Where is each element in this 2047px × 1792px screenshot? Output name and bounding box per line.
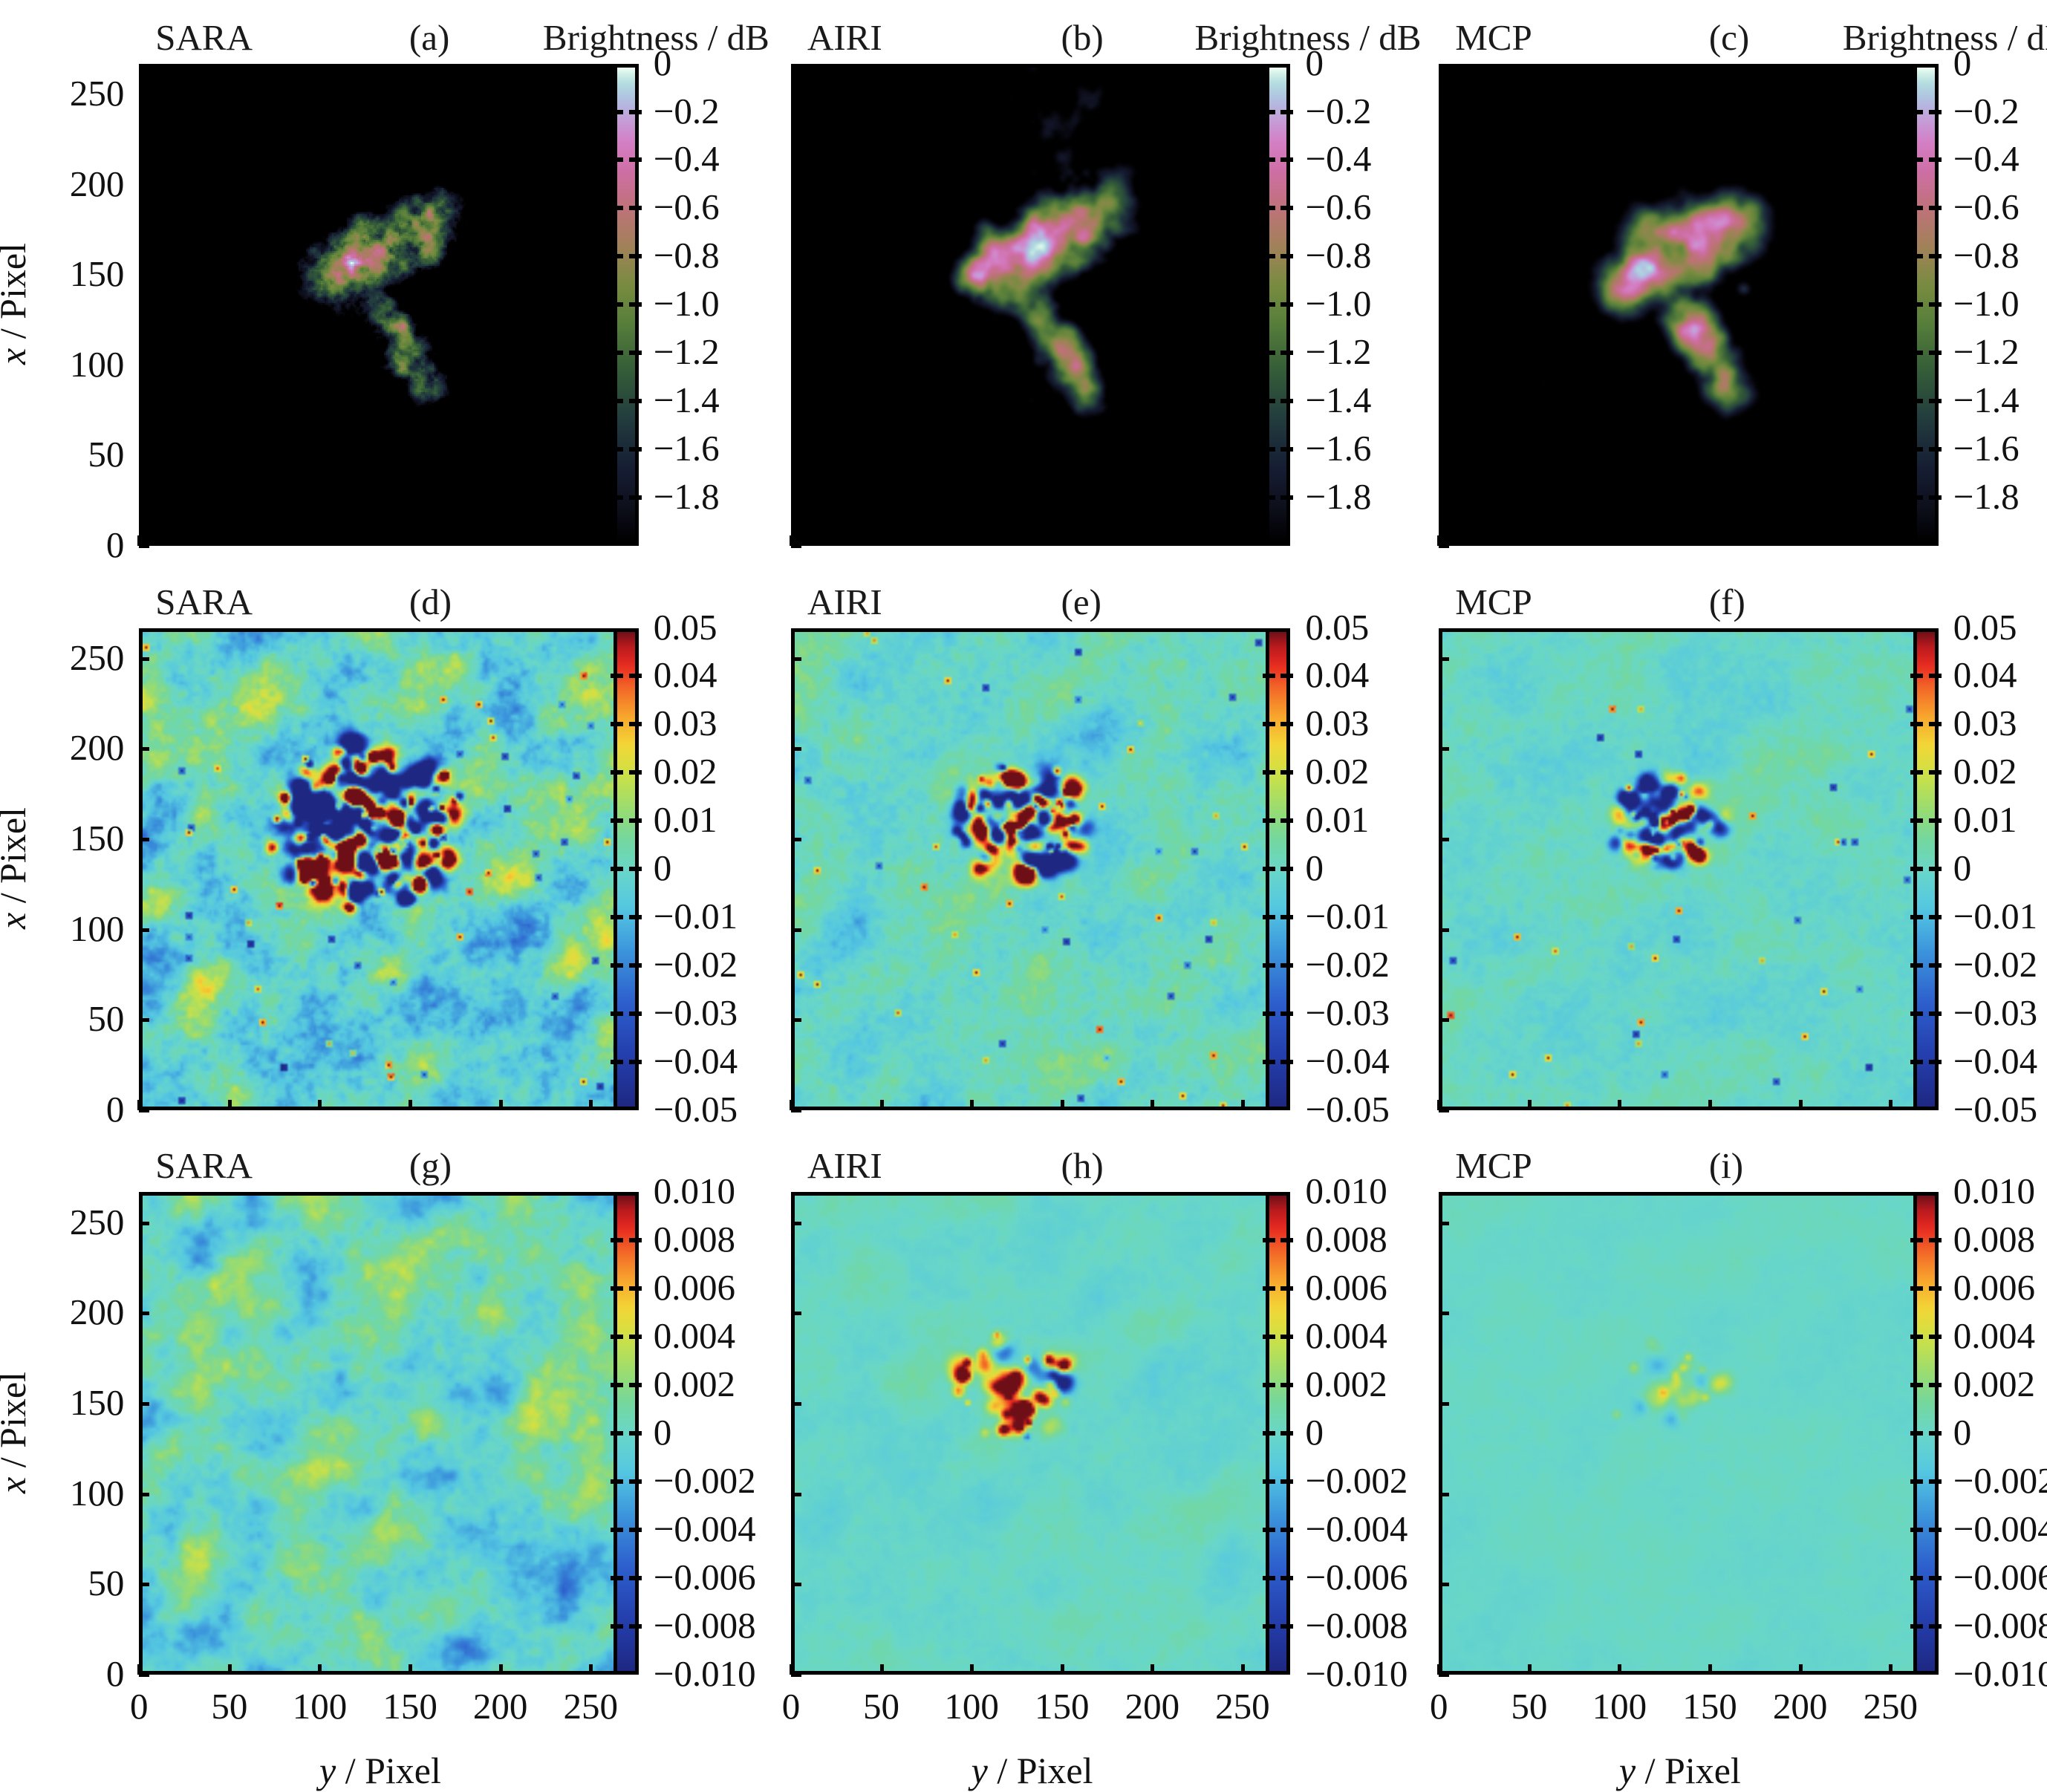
- colorbar-label-f-0: 0.05: [1953, 609, 2017, 645]
- colorbar-tick-r-a-3: [629, 206, 642, 210]
- heatmap-canvas-f: [1442, 632, 1917, 1107]
- x-axis-title-c3: y / Pixel: [1532, 1749, 1829, 1792]
- xtick-h-200: [1151, 1664, 1154, 1675]
- colorbar-tick-d-7: [611, 963, 623, 968]
- colorbar-tick-c-8: [1910, 447, 1923, 452]
- ytick-label-r3-50: 50: [0, 1565, 124, 1601]
- panel-image-h: [791, 1192, 1273, 1674]
- y-axis-title-variable: x: [0, 348, 33, 365]
- colorbar-tick-r-a-5: [629, 302, 642, 307]
- colorbar-tick-r-g-5: [629, 1431, 642, 1436]
- xtick-i-100: [1618, 1664, 1621, 1675]
- ytick-a-200: [139, 183, 149, 187]
- colorbar-tick-i-4: [1910, 1383, 1923, 1387]
- colorbar-tick-r-b-2: [1280, 157, 1293, 162]
- colorbar-label-c-0: 0: [1953, 45, 1972, 81]
- colorbar-label-e-10: −0.05: [1305, 1091, 1389, 1127]
- ytick-label-r2-200: 200: [0, 729, 124, 766]
- xtick-e-0: [790, 1100, 793, 1110]
- y-axis-title-unit: / Pixel: [0, 243, 33, 348]
- colorbar-label-a-0: 0: [654, 45, 672, 81]
- colorbar-label-c-2: −0.4: [1953, 140, 2020, 177]
- colorbar-tick-r-e-6: [1280, 915, 1293, 919]
- colorbar-label-a-7: −1.4: [654, 382, 720, 418]
- xtick-g-50: [228, 1664, 232, 1675]
- ytick-h-200: [791, 1312, 801, 1315]
- colorbar-tick-i-3: [1910, 1335, 1923, 1339]
- colorbar-tick-r-g-4: [629, 1383, 642, 1387]
- colorbar-tick-r-i-5: [1929, 1431, 1942, 1436]
- colorbar-label-g-5: 0: [654, 1414, 672, 1450]
- colorbar-tick-r-c-7: [1929, 399, 1942, 403]
- colorbar-label-e-4: 0.01: [1305, 801, 1369, 838]
- colorbar-tick-h-9: [1263, 1624, 1275, 1629]
- panel-image-e: [791, 628, 1273, 1110]
- colorbar-label-h-3: 0.004: [1305, 1317, 1387, 1354]
- colorbar-tick-r-b-7: [1280, 399, 1293, 403]
- colorbar-tick-d-2: [611, 722, 623, 726]
- colorbar-tick-g-8: [611, 1576, 623, 1580]
- panel-label-a: (a): [409, 19, 449, 56]
- colorbar-label-b-2: −0.4: [1305, 140, 1371, 177]
- colorbar-label-i-6: −0.002: [1953, 1462, 2047, 1499]
- colorbar-label-e-0: 0.05: [1305, 609, 1369, 645]
- colorbar-label-i-4: 0.002: [1953, 1366, 2035, 1402]
- panel-label-g: (g): [409, 1147, 452, 1184]
- ytick-b-50: [791, 454, 801, 457]
- colorbar-tick-r-h-7: [1280, 1528, 1293, 1532]
- colorbar-tick-r-a-8: [629, 447, 642, 452]
- colorbar-tick-r-c-8: [1929, 447, 1942, 452]
- colorbar-label-g-7: −0.004: [654, 1511, 756, 1547]
- colorbar-tick-r-a-4: [629, 254, 642, 258]
- colorbar-title-c: Brightness / dB: [1843, 19, 2047, 56]
- xtick-c-250: [1889, 535, 1893, 546]
- ytick-i-50: [1439, 1583, 1449, 1586]
- xtick-d-150: [409, 1100, 412, 1110]
- xtick-i-250: [1889, 1664, 1893, 1675]
- heatmap-canvas-c: [1442, 68, 1917, 542]
- colorbar-tick-r-a-6: [629, 351, 642, 355]
- colorbar-label-e-1: 0.04: [1305, 656, 1369, 693]
- colorbar-label-g-10: −0.010: [654, 1655, 756, 1692]
- ytick-c-250: [1439, 93, 1449, 97]
- colorbar-tick-r-h-6: [1280, 1479, 1293, 1484]
- colorbar-tick-r-e-5: [1280, 867, 1293, 871]
- colorbar-tick-r-i-9: [1929, 1624, 1942, 1629]
- xtick-b-100: [970, 535, 974, 546]
- colorbar-label-b-7: −1.4: [1305, 382, 1371, 418]
- heatmap-canvas-e: [795, 632, 1269, 1107]
- colorbar-label-h-10: −0.010: [1305, 1655, 1407, 1692]
- colorbar-label-b-8: −1.6: [1305, 430, 1371, 466]
- y-axis-title-variable: x: [0, 1477, 33, 1493]
- colorbar-tick-r-i-8: [1929, 1576, 1942, 1580]
- colorbar-label-h-8: −0.006: [1305, 1559, 1407, 1595]
- xtick-b-250: [1241, 535, 1245, 546]
- colorbar-label-a-9: −1.8: [654, 478, 720, 515]
- colorbar-tick-r-f-8: [1929, 1011, 1942, 1016]
- colorbar-label-a-5: −1.0: [654, 285, 720, 322]
- ytick-g-250: [139, 1222, 149, 1225]
- colorbar-label-f-7: −0.02: [1953, 946, 2037, 983]
- ytick-h-250: [791, 1222, 801, 1225]
- panel-title-method-g: SARA: [155, 1147, 253, 1184]
- colorbar-tick-r-b-9: [1280, 495, 1293, 500]
- colorbar-label-a-3: −0.6: [654, 189, 720, 225]
- xtick-h-100: [970, 1664, 974, 1675]
- colorbar-label-e-9: −0.04: [1305, 1043, 1389, 1079]
- colorbar-tick-r-i-6: [1929, 1479, 1942, 1484]
- colorbar-tick-h-5: [1263, 1431, 1275, 1436]
- colorbar-tick-r-h-5: [1280, 1431, 1293, 1436]
- colorbar-label-f-2: 0.03: [1953, 705, 2017, 741]
- colorbar-tick-i-5: [1910, 1431, 1923, 1436]
- colorbar-tick-e-1: [1263, 674, 1275, 678]
- colorbar-label-h-4: 0.002: [1305, 1366, 1387, 1402]
- xtick-f-250: [1889, 1100, 1893, 1110]
- colorbar-tick-i-7: [1910, 1528, 1923, 1532]
- ytick-label-r1-50: 50: [0, 436, 124, 472]
- colorbar-tick-h-6: [1263, 1479, 1275, 1484]
- colorbar-label-i-2: 0.006: [1953, 1269, 2035, 1306]
- colorbar-tick-c-5: [1910, 302, 1923, 307]
- colorbar-tick-e-7: [1263, 963, 1275, 968]
- colorbar-tick-r-g-3: [629, 1335, 642, 1339]
- heatmap-canvas-a: [143, 68, 617, 542]
- ytick-c-100: [1439, 364, 1449, 368]
- y-axis-title-r1: x / Pixel: [0, 207, 34, 400]
- colorbar-label-f-1: 0.04: [1953, 656, 2017, 693]
- ytick-d-150: [139, 838, 149, 841]
- colorbar-label-d-1: 0.04: [654, 656, 717, 693]
- colorbar-tick-r-c-1: [1929, 110, 1942, 114]
- colorbar-tick-d-4: [611, 818, 623, 823]
- xtick-c-200: [1799, 535, 1803, 546]
- ytick-c-200: [1439, 183, 1449, 187]
- colorbar-label-d-7: −0.02: [654, 946, 738, 983]
- xtick-a-50: [228, 535, 232, 546]
- colorbar-label-h-1: 0.008: [1305, 1221, 1387, 1257]
- ytick-label-r2-250: 250: [0, 639, 124, 676]
- colorbar-tick-r-d-8: [629, 1011, 642, 1016]
- colorbar-label-a-8: −1.6: [654, 430, 720, 466]
- colorbar-tick-r-d-4: [629, 818, 642, 823]
- colorbar-tick-r-f-4: [1929, 818, 1942, 823]
- colorbar-tick-c-9: [1910, 495, 1923, 500]
- colorbar-tick-a-4: [611, 254, 623, 258]
- colorbar-label-f-10: −0.05: [1953, 1091, 2037, 1127]
- xtick-h-250: [1241, 1664, 1245, 1675]
- colorbar-tick-g-3: [611, 1335, 623, 1339]
- colorbar-tick-f-4: [1910, 818, 1923, 823]
- ytick-f-100: [1439, 928, 1449, 932]
- colorbar-label-e-2: 0.03: [1305, 705, 1369, 741]
- ytick-g-100: [139, 1493, 149, 1496]
- panel-title-method-d: SARA: [155, 584, 253, 620]
- colorbar-label-d-2: 0.03: [654, 705, 717, 741]
- ytick-g-150: [139, 1402, 149, 1406]
- colorbar-tick-a-8: [611, 447, 623, 452]
- colorbar-tick-r-e-2: [1280, 722, 1293, 726]
- panel-image-b: [791, 64, 1273, 546]
- colorbar-tick-g-4: [611, 1383, 623, 1387]
- ytick-a-50: [139, 454, 149, 457]
- xtick-e-200: [1151, 1100, 1154, 1110]
- ytick-label-r1-0: 0: [0, 527, 124, 563]
- x-axis-title-unit: / Pixel: [988, 1750, 1093, 1791]
- colorbar-label-h-7: −0.004: [1305, 1511, 1407, 1547]
- ytick-d-100: [139, 928, 149, 932]
- y-axis-title-unit: / Pixel: [0, 1372, 33, 1477]
- heatmap-canvas-d: [143, 632, 617, 1107]
- colorbar-tick-g-6: [611, 1479, 623, 1484]
- ytick-f-50: [1439, 1018, 1449, 1022]
- colorbar-tick-r-h-1: [1280, 1238, 1293, 1242]
- panel-image-a: [139, 64, 621, 546]
- panel-title-method-h: AIRI: [807, 1147, 882, 1184]
- colorbar-label-c-9: −1.8: [1953, 478, 2020, 515]
- x-axis-title-c2: y / Pixel: [884, 1749, 1181, 1792]
- ytick-label-r1-250: 250: [0, 75, 124, 111]
- xtick-e-250: [1241, 1100, 1245, 1110]
- x-axis-title-variable: y: [972, 1750, 988, 1791]
- colorbar-label-b-5: −1.0: [1305, 285, 1371, 322]
- colorbar-tick-g-5: [611, 1431, 623, 1436]
- colorbar-label-h-5: 0: [1305, 1414, 1324, 1450]
- ytick-f-250: [1439, 657, 1449, 661]
- colorbar-tick-a-6: [611, 351, 623, 355]
- ytick-i-100: [1439, 1493, 1449, 1496]
- colorbar-label-h-0: 0.010: [1305, 1173, 1387, 1209]
- heatmap-canvas-g: [143, 1196, 617, 1670]
- colorbar-tick-e-4: [1263, 818, 1275, 823]
- colorbar-tick-c-4: [1910, 254, 1923, 258]
- colorbar-tick-h-8: [1263, 1576, 1275, 1580]
- colorbar-tick-f-6: [1910, 915, 1923, 919]
- colorbar-tick-r-c-6: [1929, 351, 1942, 355]
- colorbar-label-g-1: 0.008: [654, 1221, 735, 1257]
- xtick-f-100: [1618, 1100, 1621, 1110]
- colorbar-tick-c-2: [1910, 157, 1923, 162]
- xtick-e-100: [970, 1100, 974, 1110]
- colorbar-tick-a-2: [611, 157, 623, 162]
- colorbar-tick-r-a-2: [629, 157, 642, 162]
- colorbar-tick-e-9: [1263, 1060, 1275, 1064]
- ytick-label-r3-200: 200: [0, 1294, 124, 1330]
- colorbar-label-f-6: −0.01: [1953, 898, 2037, 934]
- colorbar-label-c-3: −0.6: [1953, 189, 2020, 225]
- colorbar-tick-i-1: [1910, 1238, 1923, 1242]
- colorbar-tick-a-7: [611, 399, 623, 403]
- panel-title-method-b: AIRI: [807, 19, 882, 56]
- colorbar-label-c-7: −1.4: [1953, 382, 2020, 418]
- colorbar-tick-d-6: [611, 915, 623, 919]
- colorbar-tick-d-3: [611, 770, 623, 775]
- panel-label-e: (e): [1061, 584, 1101, 620]
- colorbar-tick-r-c-2: [1929, 157, 1942, 162]
- colorbar-tick-h-2: [1263, 1286, 1275, 1291]
- heatmap-canvas-h: [795, 1196, 1269, 1670]
- colorbar-tick-r-f-9: [1929, 1060, 1942, 1064]
- colorbar-tick-r-f-2: [1929, 722, 1942, 726]
- colorbar-label-c-5: −1.0: [1953, 285, 2020, 322]
- colorbar-label-f-4: 0.01: [1953, 801, 2017, 838]
- colorbar-tick-r-a-7: [629, 399, 642, 403]
- colorbar-label-f-3: 0.02: [1953, 753, 2017, 789]
- xtick-a-200: [499, 535, 503, 546]
- colorbar-tick-b-5: [1263, 302, 1275, 307]
- colorbar-tick-r-i-1: [1929, 1238, 1942, 1242]
- colorbar-tick-r-b-6: [1280, 351, 1293, 355]
- colorbar-tick-r-c-9: [1929, 495, 1942, 500]
- colorbar-tick-e-5: [1263, 867, 1275, 871]
- ytick-e-100: [791, 928, 801, 932]
- ytick-b-200: [791, 183, 801, 187]
- colorbar-tick-c-1: [1910, 110, 1923, 114]
- colorbar-tick-r-f-5: [1929, 867, 1942, 871]
- colorbar-label-h-9: −0.008: [1305, 1607, 1407, 1643]
- xtick-i-150: [1708, 1664, 1712, 1675]
- panel-label-f: (f): [1709, 584, 1745, 620]
- xtick-d-250: [589, 1100, 593, 1110]
- panel-title-method-f: MCP: [1455, 584, 1532, 620]
- panel-image-f: [1439, 628, 1921, 1110]
- ytick-d-200: [139, 747, 149, 751]
- colorbar-tick-b-4: [1263, 254, 1275, 258]
- xtick-g-200: [499, 1664, 503, 1675]
- colorbar-tick-r-i-3: [1929, 1335, 1942, 1339]
- colorbar-tick-r-h-3: [1280, 1335, 1293, 1339]
- colorbar-label-g-2: 0.006: [654, 1269, 735, 1306]
- panel-title-method-c: MCP: [1455, 19, 1532, 56]
- colorbar-tick-r-e-9: [1280, 1060, 1293, 1064]
- ytick-f-200: [1439, 747, 1449, 751]
- x-axis-title-variable: y: [319, 1750, 336, 1791]
- colorbar-label-b-1: −0.2: [1305, 93, 1371, 129]
- colorbar-label-c-6: −1.2: [1953, 333, 2020, 370]
- xtick-b-50: [880, 535, 884, 546]
- colorbar-tick-r-g-6: [629, 1479, 642, 1484]
- colorbar-tick-r-b-3: [1280, 206, 1293, 210]
- colorbar-label-e-8: −0.03: [1305, 994, 1389, 1031]
- colorbar-tick-g-7: [611, 1528, 623, 1532]
- colorbar-tick-r-h-9: [1280, 1624, 1293, 1629]
- xtick-d-0: [137, 1100, 141, 1110]
- x-axis-title-c1: y / Pixel: [232, 1749, 529, 1792]
- ytick-label-r3-0: 0: [0, 1655, 124, 1692]
- colorbar-label-b-3: −0.6: [1305, 189, 1371, 225]
- colorbar-tick-e-3: [1263, 770, 1275, 775]
- colorbar-tick-g-2: [611, 1286, 623, 1291]
- colorbar-label-e-6: −0.01: [1305, 898, 1389, 934]
- colorbar-tick-a-3: [611, 206, 623, 210]
- ytick-f-150: [1439, 838, 1449, 841]
- colorbar-tick-f-9: [1910, 1060, 1923, 1064]
- y-axis-title-r2: x / Pixel: [0, 772, 34, 965]
- xtick-f-0: [1437, 1100, 1441, 1110]
- xtick-c-100: [1618, 535, 1621, 546]
- ytick-label-r2-50: 50: [0, 1000, 124, 1037]
- xtick-a-150: [409, 535, 412, 546]
- ytick-i-200: [1439, 1312, 1449, 1315]
- panel-label-b: (b): [1061, 19, 1104, 56]
- xtick-h-150: [1061, 1664, 1064, 1675]
- colorbar-tick-r-b-1: [1280, 110, 1293, 114]
- colorbar-label-g-6: −0.002: [654, 1462, 756, 1499]
- colorbar-label-c-4: −0.8: [1953, 237, 2020, 273]
- xtick-b-0: [790, 535, 793, 546]
- colorbar-tick-r-d-2: [629, 722, 642, 726]
- colorbar-tick-h-3: [1263, 1335, 1275, 1339]
- colorbar-tick-r-d-1: [629, 674, 642, 678]
- ytick-a-250: [139, 93, 149, 97]
- y-axis-title-variable: x: [0, 913, 33, 929]
- xtick-c-50: [1528, 535, 1532, 546]
- ytick-h-100: [791, 1493, 801, 1496]
- colorbar-tick-g-1: [611, 1238, 623, 1242]
- colorbar-tick-d-9: [611, 1060, 623, 1064]
- panel-image-c: [1439, 64, 1921, 546]
- ytick-i-250: [1439, 1222, 1449, 1225]
- ytick-g-200: [139, 1312, 149, 1315]
- colorbar-label-b-9: −1.8: [1305, 478, 1371, 515]
- xtick-e-150: [1061, 1100, 1064, 1110]
- xtick-i-0: [1437, 1664, 1441, 1675]
- colorbar-tick-r-f-6: [1929, 915, 1942, 919]
- colorbar-tick-a-9: [611, 495, 623, 500]
- colorbar-tick-r-d-6: [629, 915, 642, 919]
- colorbar-tick-d-8: [611, 1011, 623, 1016]
- colorbar-label-e-5: 0: [1305, 850, 1324, 886]
- panel-label-i: (i): [1709, 1147, 1743, 1184]
- colorbar-tick-i-6: [1910, 1479, 1923, 1484]
- colorbar-tick-h-4: [1263, 1383, 1275, 1387]
- xtick-h-50: [880, 1664, 884, 1675]
- xtick-f-50: [1528, 1100, 1532, 1110]
- colorbar-label-d-3: 0.02: [654, 753, 717, 789]
- colorbar-label-i-7: −0.004: [1953, 1511, 2047, 1547]
- colorbar-label-e-3: 0.02: [1305, 753, 1369, 789]
- colorbar-label-i-9: −0.008: [1953, 1607, 2047, 1643]
- xtick-g-150: [409, 1664, 412, 1675]
- colorbar-tick-r-i-2: [1929, 1286, 1942, 1291]
- colorbar-tick-r-e-3: [1280, 770, 1293, 775]
- colorbar-tick-r-a-1: [629, 110, 642, 114]
- x-axis-title-unit: / Pixel: [1636, 1750, 1741, 1791]
- panel-label-h: (h): [1061, 1147, 1104, 1184]
- y-axis-title-r3: x / Pixel: [0, 1336, 34, 1529]
- colorbar-tick-r-h-8: [1280, 1576, 1293, 1580]
- colorbar-tick-i-8: [1910, 1576, 1923, 1580]
- colorbar-tick-f-5: [1910, 867, 1923, 871]
- panel-image-i: [1439, 1192, 1921, 1674]
- panel-image-d: [139, 628, 621, 1110]
- colorbar-tick-b-8: [1263, 447, 1275, 452]
- heatmap-canvas-b: [795, 68, 1269, 542]
- colorbar-label-g-9: −0.008: [654, 1607, 756, 1643]
- ytick-g-50: [139, 1583, 149, 1586]
- panel-title-method-e: AIRI: [807, 584, 882, 620]
- colorbar-tick-d-1: [611, 674, 623, 678]
- colorbar-tick-r-g-1: [629, 1238, 642, 1242]
- colorbar-label-d-4: 0.01: [654, 801, 717, 838]
- colorbar-label-i-10: −0.010: [1953, 1655, 2047, 1692]
- colorbar-tick-a-5: [611, 302, 623, 307]
- colorbar-tick-r-e-7: [1280, 963, 1293, 968]
- colorbar-tick-c-3: [1910, 206, 1923, 210]
- colorbar-tick-r-h-4: [1280, 1383, 1293, 1387]
